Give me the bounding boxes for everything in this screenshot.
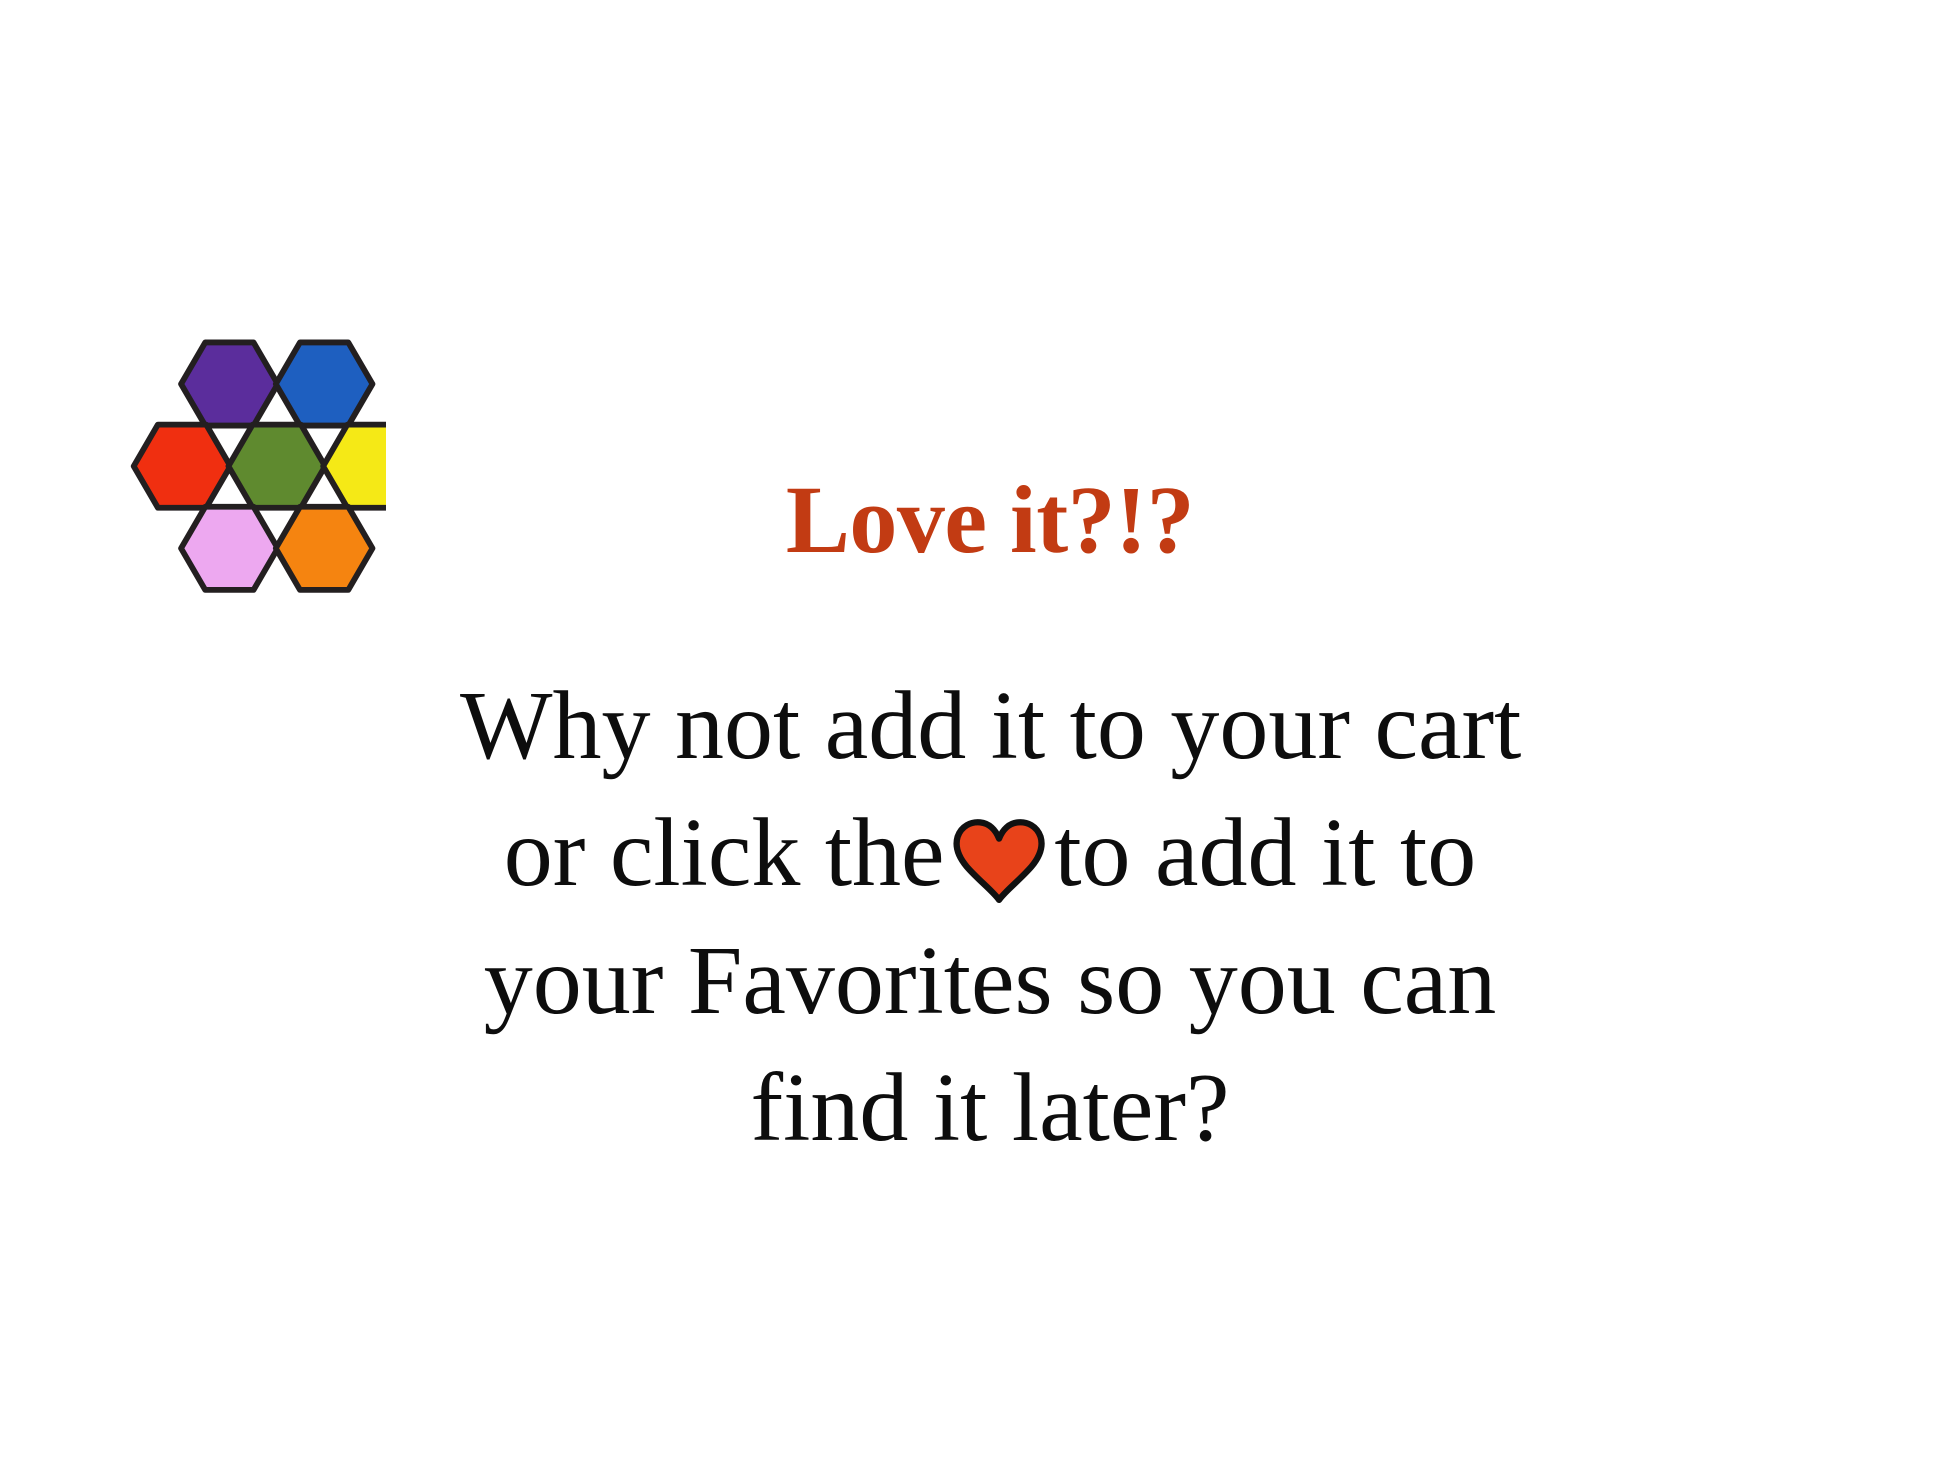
body-line-2-after-heart: to add it to bbox=[1054, 799, 1476, 907]
hexagon-purple bbox=[181, 342, 278, 425]
body-line-2: or click the to add it to bbox=[460, 790, 1520, 917]
slide-canvas: Love it?!? Why not add it to your cart o… bbox=[0, 0, 1946, 1460]
body-line-1: Why not add it to your cart bbox=[460, 663, 1520, 790]
body-line-4: find it later? bbox=[460, 1045, 1520, 1172]
hexagon-green bbox=[228, 425, 325, 508]
body-copy: Why not add it to your cart or click the… bbox=[460, 663, 1520, 1173]
hexagon-pink bbox=[181, 507, 278, 590]
hexagon-orange bbox=[276, 507, 373, 590]
hexagon-red bbox=[134, 425, 231, 508]
message-block: Love it?!? Why not add it to your cart o… bbox=[460, 470, 1520, 1172]
hexagon-yellow bbox=[323, 425, 386, 508]
hexagon-flower-logo bbox=[96, 326, 386, 616]
heart-icon[interactable] bbox=[954, 818, 1044, 904]
body-line-2-before-heart: or click the bbox=[504, 799, 945, 907]
hexagon-blue bbox=[276, 342, 373, 425]
body-line-3: your Favorites so you can bbox=[460, 918, 1520, 1045]
page-title: Love it?!? bbox=[460, 470, 1520, 571]
